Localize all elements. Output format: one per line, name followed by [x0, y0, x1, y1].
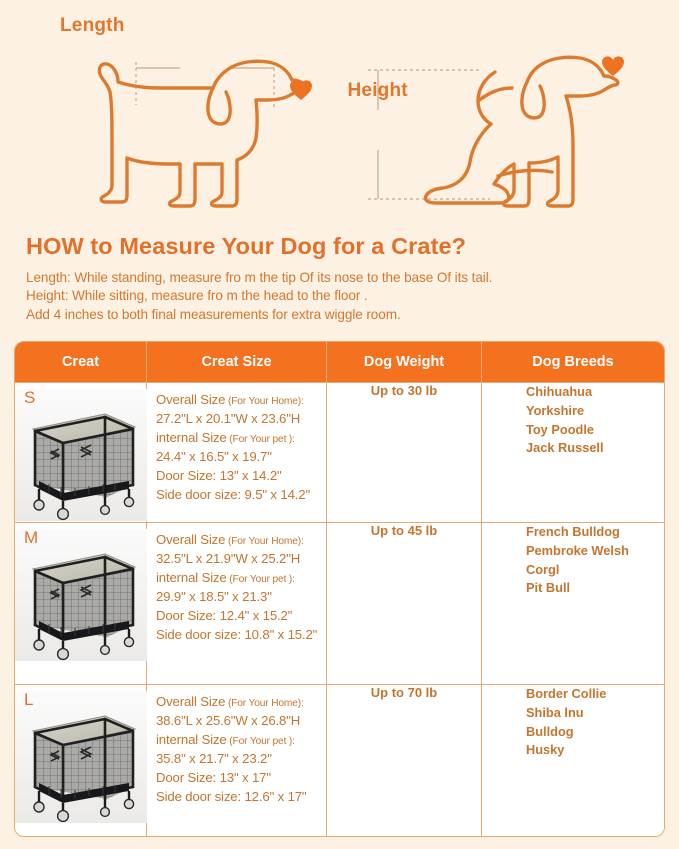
size-line-text: 24.4" x 16.5" x 19.7" [156, 449, 272, 464]
size-line-text: Overall Size [156, 392, 225, 407]
dog-breed-item: Chihuahua [526, 383, 664, 402]
crate-size-line: 32.5"L x 21.9"W x 25.2"H [156, 550, 320, 569]
length-label: Length [60, 15, 125, 37]
instruction-line-2: Height: While sitting, measure fro m the… [26, 287, 653, 305]
crate-size-line: 24.4" x 16.5" x 19.7" [156, 448, 320, 467]
dog-breeds-cell: French BulldogPembroke WelshCorglPit Bul… [482, 522, 664, 684]
size-line-text: Side door size: 12.6" x 17" [156, 789, 306, 804]
dog-crate-large-image [15, 691, 147, 823]
crate-size-letter: L [24, 690, 33, 710]
standing-dog-outline [99, 61, 305, 206]
standing-dog-svg [0, 0, 340, 225]
dog-breed-item: Jack Russell [526, 439, 664, 458]
crate-size-line: Overall Size (For Your Home): [156, 693, 320, 712]
size-table-wrap: Creat Creat Size Dog Weight Dog Breeds [0, 324, 679, 837]
size-line-text: internal Size [156, 430, 227, 445]
table-header: Creat Creat Size Dog Weight Dog Breeds [15, 342, 664, 382]
dog-crate-small-image [15, 389, 147, 521]
table-row: LOverall Size (For Your Home):38.6"L x 2… [15, 684, 664, 836]
heart-icon [602, 56, 624, 76]
dog-breeds-cell: Border CollieShiba lnuBulldogHusky [482, 684, 664, 836]
crate-image-cell: M [15, 522, 147, 684]
height-label: Height [348, 80, 408, 102]
dog-ear [208, 88, 230, 124]
size-line-text: internal Size [156, 570, 227, 585]
illustration-band: Length Height [0, 0, 679, 225]
column-header-dog-breeds: Dog Breeds [482, 342, 664, 382]
sitting-dog-svg [340, 0, 679, 225]
dog-back [478, 88, 512, 101]
table-row: SOverall Size (For Your Home):27.2"L x 2… [15, 382, 664, 522]
infographic-page: Length Height HOW [0, 0, 679, 849]
size-line-note: (For Your Home): [225, 698, 303, 709]
size-line-text: 29.9" x 18.5" x 21.3" [156, 589, 272, 604]
size-line-note: (For Your pet ): [227, 736, 295, 747]
dog-breed-item: Husky [526, 741, 664, 760]
crate-size-cell: Overall Size (For Your Home):27.2"L x 20… [147, 382, 327, 522]
table-row: MOverall Size (For Your Home):32.5"L x 2… [15, 522, 664, 684]
dog-breed-item: Border Collie [526, 685, 664, 704]
crate-size-line: Overall Size (For Your Home): [156, 531, 320, 550]
crate-size-line: 29.9" x 18.5" x 21.3" [156, 588, 320, 607]
crate-size-line: Side door size: 12.6" x 17" [156, 788, 320, 807]
crate-image-cell: L [15, 684, 147, 836]
instruction-line-3: Add 4 inches to both final measurements … [26, 306, 653, 324]
table-header-row: Creat Creat Size Dog Weight Dog Breeds [15, 342, 664, 382]
crate-size-line: internal Size (For Your pet ): [156, 569, 320, 588]
crate-size-line: 38.6"L x 25.6"W x 26.8"H [156, 712, 320, 731]
size-line-text: Side door size: 9.5" x 14.2" [156, 487, 310, 502]
column-header-crate-size: Creat Size [147, 342, 327, 382]
crate-size-line: 35.8" x 21.7" x 23.2" [156, 750, 320, 769]
size-line-text: internal Size [156, 732, 227, 747]
size-line-text: Door Size: 13" x 17" [156, 770, 271, 785]
size-line-note: (For Your pet ): [227, 434, 295, 445]
dog-breeds-cell: ChihuahuaYorkshireToy PoodleJack Russell [482, 382, 664, 522]
column-header-crate: Creat [15, 342, 147, 382]
crate-size-letter: S [24, 388, 35, 408]
size-line-text: Overall Size [156, 532, 225, 547]
crate-size-cell: Overall Size (For Your Home):32.5"L x 21… [147, 522, 327, 684]
dog-crate-medium-image [15, 529, 147, 661]
crate-size-cell: Overall Size (For Your Home):38.6"L x 25… [147, 684, 327, 836]
dog-breed-item: Shiba lnu [526, 704, 664, 723]
dog-breed-item: Yorkshire [526, 402, 664, 421]
sitting-dog-outline [425, 57, 617, 206]
size-line-text: Side door size: 10.8" x 15.2" [156, 627, 317, 642]
sitting-dog-illustration: Height [340, 0, 679, 225]
size-line-text: 35.8" x 21.7" x 23.2" [156, 751, 272, 766]
table-body: SOverall Size (For Your Home):27.2"L x 2… [15, 382, 664, 836]
crate-size-line: Door Size: 13" x 17" [156, 769, 320, 788]
dog-breed-item: Pit Bull [526, 579, 664, 598]
dog-weight-cell: Up to 30 lb [327, 382, 482, 522]
dog-breed-item: Pembroke Welsh [526, 542, 664, 561]
standing-dog-illustration: Length [0, 0, 340, 225]
instruction-line-1: Length: While standing, measure fro m th… [26, 269, 653, 287]
crate-size-line: Door Size: 12.4" x 15.2" [156, 607, 320, 626]
dog-breed-item: Bulldog [526, 723, 664, 742]
crate-size-line: internal Size (For Your pet ): [156, 731, 320, 750]
crate-size-line: internal Size (For Your pet ): [156, 429, 320, 448]
size-line-text: Door Size: 12.4" x 15.2" [156, 608, 292, 623]
size-line-text: Door Size: 13" x 14.2" [156, 468, 282, 483]
heading-block: HOW to Measure Your Dog for a Crate? Len… [0, 225, 679, 324]
size-line-note: (For Your Home): [225, 536, 303, 547]
length-measure-line [136, 62, 274, 108]
crate-image-cell: S [15, 382, 147, 522]
dog-weight-cell: Up to 45 lb [327, 522, 482, 684]
size-line-text: Overall Size [156, 694, 225, 709]
crate-size-line: 27.2"L x 20.1"W x 23.6"H [156, 410, 320, 429]
dog-breed-item: Toy Poodle [526, 421, 664, 440]
crate-size-line: Side door size: 9.5" x 14.2" [156, 486, 320, 505]
column-header-dog-weight: Dog Weight [327, 342, 482, 382]
crate-size-letter: M [24, 528, 38, 548]
size-line-text: 32.5"L x 21.9"W x 25.2"H [156, 551, 300, 566]
dog-breed-item: French Bulldog [526, 523, 664, 542]
dog-breed-item: Corgl [526, 561, 664, 580]
size-line-text: 38.6"L x 25.6"W x 26.8"H [156, 713, 300, 728]
page-title: HOW to Measure Your Dog for a Crate? [26, 233, 653, 260]
size-line-text: 27.2"L x 20.1"W x 23.6"H [156, 411, 300, 426]
crate-size-line: Door Size: 13" x 14.2" [156, 467, 320, 486]
size-line-note: (For Your pet ): [227, 574, 295, 585]
crate-size-table: Creat Creat Size Dog Weight Dog Breeds [14, 341, 665, 837]
size-line-note: (For Your Home): [225, 396, 303, 407]
crate-size-line: Overall Size (For Your Home): [156, 391, 320, 410]
dog-weight-cell: Up to 70 lb [327, 684, 482, 836]
crate-size-line: Side door size: 10.8" x 15.2" [156, 626, 320, 645]
dog-ear [521, 82, 543, 118]
